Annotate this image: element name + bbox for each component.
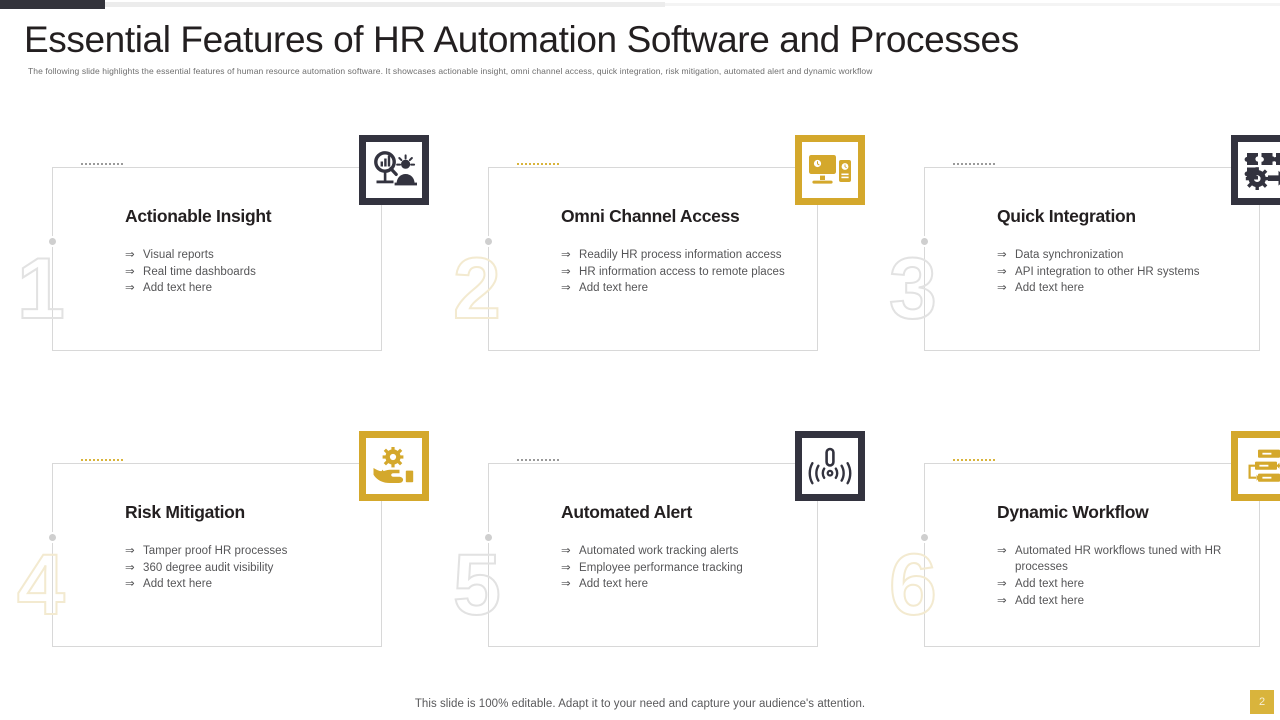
feature-card-4[interactable]: 4 Risk Mitigation ⇒Tamper proof HR proce… — [45, 448, 417, 668]
arrow-bullet-icon: ⇒ — [997, 247, 1007, 263]
list-item: ⇒Add text here — [125, 576, 377, 592]
list-item: ⇒Real time dashboards — [125, 264, 377, 280]
list-item: ⇒Visual reports — [125, 247, 377, 263]
dotted-accent — [517, 459, 559, 463]
card-title: Dynamic Workflow — [997, 502, 1148, 523]
bullet-text: 360 degree audit visibility — [143, 562, 273, 574]
arrow-bullet-icon: ⇒ — [561, 280, 571, 296]
arrow-bullet-icon: ⇒ — [561, 543, 571, 559]
arrow-bullet-icon: ⇒ — [561, 247, 571, 263]
list-item: ⇒Add text here — [561, 576, 813, 592]
list-item: ⇒Data synchronization — [997, 247, 1249, 263]
arrow-bullet-icon: ⇒ — [997, 264, 1007, 280]
card-bullet-list: ⇒Automated work tracking alerts ⇒Employe… — [561, 543, 813, 593]
page-number-badge: 2 — [1250, 690, 1274, 714]
list-item: ⇒Add text here — [997, 593, 1249, 609]
feature-card-5[interactable]: 5 Automated Alert ⇒Automated work tracki… — [481, 448, 853, 668]
puzzle-gear-arrow-icon — [1231, 135, 1280, 205]
bullet-text: Readily HR process information access — [579, 249, 782, 261]
card-title: Actionable Insight — [125, 206, 271, 227]
bullet-text: Real time dashboards — [143, 266, 256, 278]
bullet-text: Add text here — [1015, 578, 1084, 590]
bullet-text: Automated work tracking alerts — [579, 545, 738, 557]
arrow-bullet-icon: ⇒ — [125, 560, 135, 576]
feature-card-6[interactable]: 6 Dynamic Workflow ⇒Automated HR workflo… — [917, 448, 1280, 668]
feature-card-2[interactable]: 2 Omni Channel Access ⇒Readily HR proces… — [481, 152, 853, 372]
arrow-bullet-icon: ⇒ — [125, 543, 135, 559]
bullet-text: Add text here — [1015, 595, 1084, 607]
insight-analysis-icon — [359, 135, 429, 205]
arrow-bullet-icon: ⇒ — [997, 593, 1007, 609]
arrow-bullet-icon: ⇒ — [125, 280, 135, 296]
arrow-bullet-icon: ⇒ — [125, 247, 135, 263]
card-number: 6 — [889, 542, 937, 628]
dotted-accent — [953, 459, 995, 463]
bullet-text: Add text here — [1015, 282, 1084, 294]
card-number: 3 — [889, 246, 937, 332]
workflow-loop-icon — [1231, 431, 1280, 501]
arrow-bullet-icon: ⇒ — [561, 560, 571, 576]
footer-note: This slide is 100% editable. Adapt it to… — [0, 698, 1280, 710]
bullet-text: Add text here — [143, 578, 212, 590]
bullet-text: Data synchronization — [1015, 249, 1123, 261]
feature-card-1[interactable]: 1 Actionable Insight ⇒Visual reports ⇒Re… — [45, 152, 417, 372]
card-title: Quick Integration — [997, 206, 1136, 227]
arrow-bullet-icon: ⇒ — [561, 576, 571, 592]
bullet-text: HR information access to remote places — [579, 266, 785, 278]
dotted-accent — [81, 163, 123, 167]
bullet-text: Add text here — [143, 282, 212, 294]
card-number: 5 — [453, 542, 501, 628]
card-bullet-list: ⇒Readily HR process information access ⇒… — [561, 247, 813, 297]
card-bullet-list: ⇒Data synchronization ⇒API integration t… — [997, 247, 1249, 297]
card-title: Automated Alert — [561, 502, 692, 523]
card-title: Omni Channel Access — [561, 206, 739, 227]
list-item: ⇒Add text here — [125, 280, 377, 296]
slide-canvas: Essential Features of HR Automation Soft… — [0, 0, 1280, 720]
bullet-text: Add text here — [579, 578, 648, 590]
bullet-text: Add text here — [579, 282, 648, 294]
arrow-bullet-icon: ⇒ — [997, 576, 1007, 592]
list-item: ⇒Add text here — [997, 280, 1249, 296]
bullet-text: API integration to other HR systems — [1015, 266, 1200, 278]
bullet-text: Automated HR workflows tuned with HR pro… — [1015, 545, 1221, 573]
dotted-accent — [81, 459, 123, 463]
card-bullet-list: ⇒Tamper proof HR processes ⇒360 degree a… — [125, 543, 377, 593]
list-item: ⇒Tamper proof HR processes — [125, 543, 377, 559]
arrow-bullet-icon: ⇒ — [561, 264, 571, 280]
list-item: ⇒Readily HR process information access — [561, 247, 813, 263]
card-bullet-list: ⇒Visual reports ⇒Real time dashboards ⇒A… — [125, 247, 377, 297]
bullet-text: Tamper proof HR processes — [143, 545, 287, 557]
list-item: ⇒Add text here — [997, 576, 1249, 592]
card-number: 4 — [17, 542, 65, 628]
dotted-accent — [953, 163, 995, 167]
arrow-bullet-icon: ⇒ — [125, 576, 135, 592]
card-number: 1 — [17, 246, 65, 332]
arrow-bullet-icon: ⇒ — [997, 280, 1007, 296]
dotted-accent — [517, 163, 559, 167]
list-item: ⇒Add text here — [561, 280, 813, 296]
feature-card-3[interactable]: 3 Quick Integration ⇒Data synchronizatio… — [917, 152, 1280, 372]
list-item: ⇒Employee performance tracking — [561, 560, 813, 576]
list-item: ⇒Automated HR workflows tuned with HR pr… — [997, 543, 1249, 575]
card-title: Risk Mitigation — [125, 502, 245, 523]
bullet-text: Visual reports — [143, 249, 214, 261]
arrow-bullet-icon: ⇒ — [997, 543, 1007, 559]
list-item: ⇒Automated work tracking alerts — [561, 543, 813, 559]
card-number: 2 — [453, 246, 501, 332]
bullet-text: Employee performance tracking — [579, 562, 743, 574]
hand-gear-warning-icon — [359, 431, 429, 501]
list-item: ⇒360 degree audit visibility — [125, 560, 377, 576]
alert-signal-icon — [795, 431, 865, 501]
arrow-bullet-icon: ⇒ — [125, 264, 135, 280]
desktop-devices-icon — [795, 135, 865, 205]
card-bullet-list: ⇒Automated HR workflows tuned with HR pr… — [997, 543, 1249, 609]
feature-card-grid: 1 Actionable Insight ⇒Visual reports ⇒Re… — [0, 0, 1280, 720]
list-item: ⇒API integration to other HR systems — [997, 264, 1249, 280]
list-item: ⇒HR information access to remote places — [561, 264, 813, 280]
